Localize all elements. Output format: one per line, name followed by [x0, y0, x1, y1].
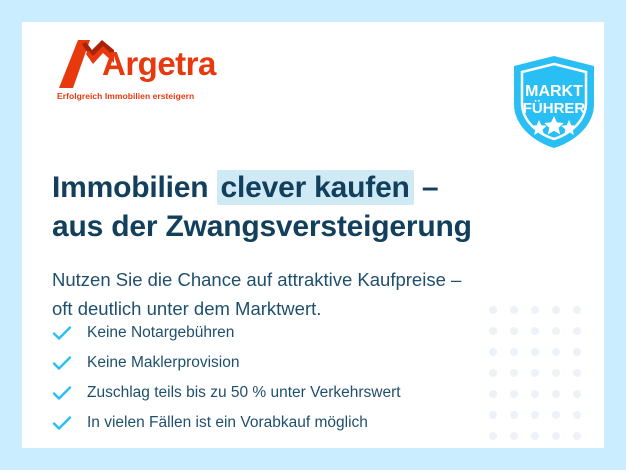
decorative-dot — [531, 411, 539, 419]
decorative-dot — [552, 432, 560, 440]
check-icon — [52, 325, 78, 341]
benefit-item: Zuschlag teils bis zu 50 % unter Verkehr… — [52, 378, 522, 408]
headline-part2: – — [414, 171, 439, 204]
logo-wordmark: Argetra — [102, 42, 216, 86]
market-leader-badge: MARKT FÜHRER — [510, 54, 598, 150]
promo-card: Argetra Erfolgreich Immobilien ersteiger… — [22, 22, 604, 448]
decorative-dot — [573, 411, 581, 419]
check-icon — [52, 355, 78, 371]
subheading-line2: oft deutlich unter dem Marktwert. — [52, 298, 321, 319]
decorative-dot — [573, 432, 581, 440]
benefit-item: Keine Maklerprovision — [52, 348, 522, 378]
subheading-line1: Nutzen Sie die Chance auf attraktive Kau… — [52, 269, 461, 290]
decorative-dot — [573, 306, 581, 314]
decorative-dot — [573, 327, 581, 335]
decorative-dot — [531, 348, 539, 356]
decorative-dot — [573, 390, 581, 398]
logo-tagline: Erfolgreich Immobilien ersteigern — [57, 91, 194, 101]
decorative-dot — [531, 390, 539, 398]
decorative-dot — [573, 348, 581, 356]
decorative-dot — [552, 390, 560, 398]
check-icon — [52, 385, 78, 401]
benefit-label: Zuschlag teils bis zu 50 % unter Verkehr… — [87, 384, 401, 402]
headline-part1: Immobilien — [52, 171, 217, 204]
decorative-dot — [531, 369, 539, 377]
decorative-dot — [552, 348, 560, 356]
benefits-list: Keine NotargebührenKeine Maklerprovision… — [52, 318, 522, 438]
decorative-dot — [573, 369, 581, 377]
page-title: Immobilien clever kaufen – aus der Zwang… — [52, 168, 572, 246]
headline-highlight: clever kaufen — [217, 170, 414, 205]
benefit-label: Keine Notargebühren — [87, 324, 234, 342]
decorative-dot — [552, 369, 560, 377]
benefit-item: Keine Notargebühren — [52, 318, 522, 348]
argetra-logo: Argetra Erfolgreich Immobilien ersteiger… — [56, 38, 276, 90]
benefit-label: Keine Maklerprovision — [87, 354, 240, 372]
decorative-dot — [552, 411, 560, 419]
benefit-item: In vielen Fällen ist ein Vorabkauf mögli… — [52, 408, 522, 438]
decorative-dot — [531, 432, 539, 440]
subheading: Nutzen Sie die Chance auf attraktive Kau… — [52, 265, 572, 323]
badge-line1: MARKT — [525, 83, 583, 100]
headline-line2: aus der Zwangsversteigerung — [52, 210, 472, 243]
badge-line2: FÜHRER — [523, 100, 586, 117]
check-icon — [52, 415, 78, 431]
decorative-dot — [531, 327, 539, 335]
benefit-label: In vielen Fällen ist ein Vorabkauf mögli… — [87, 414, 368, 432]
decorative-dot — [552, 327, 560, 335]
